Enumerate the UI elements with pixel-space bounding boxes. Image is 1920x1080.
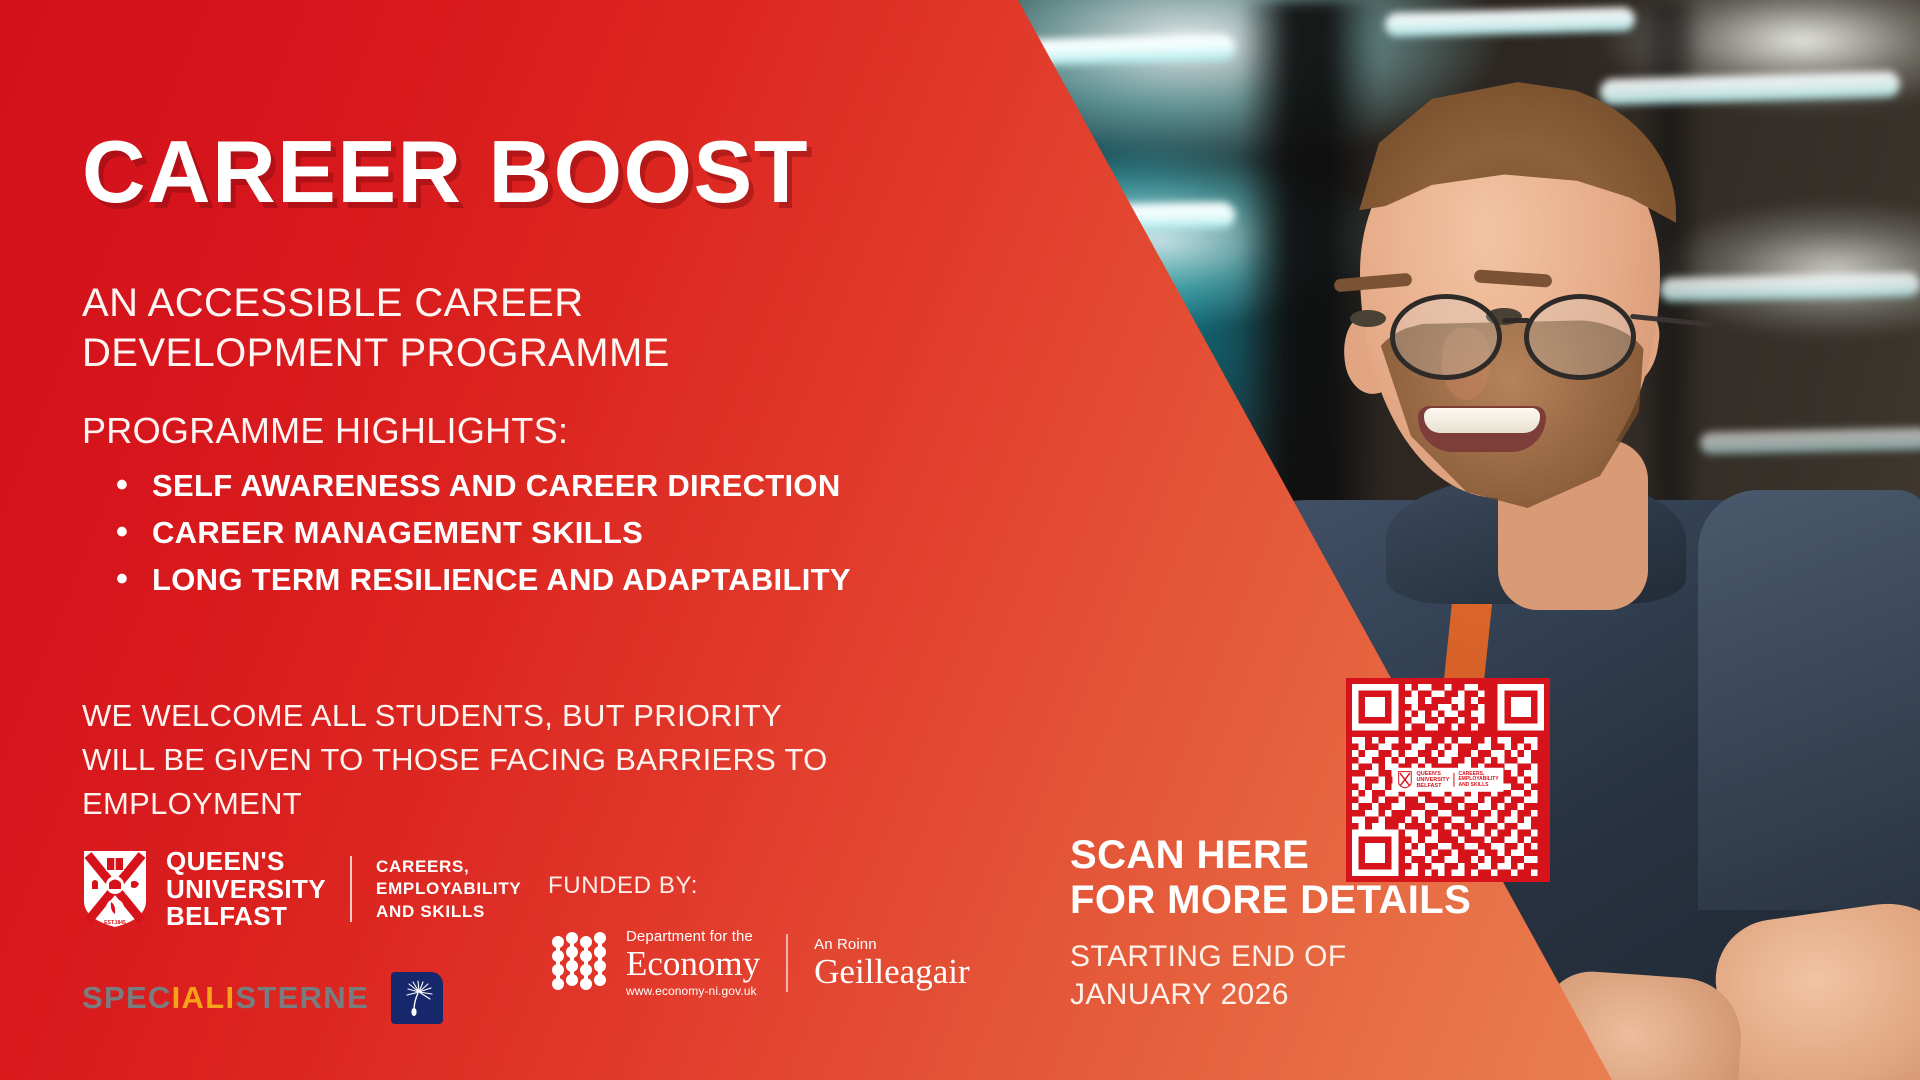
- list-item: LONG TERM RESILIENCE AND ADAPTABILITY: [110, 556, 851, 603]
- starting-line-2: JANUARY 2026: [1070, 976, 1347, 1014]
- dept-line-2: EMPLOYABILITY: [376, 878, 521, 900]
- dfe-irish: An Roinn Geilleagair: [814, 936, 969, 990]
- dandelion-icon: [391, 972, 443, 1024]
- qub-line-3: BELFAST: [166, 903, 326, 931]
- welcome-line-1: WE WELCOME ALL STUDENTS, BUT PRIORITY: [82, 694, 828, 738]
- qub-crest-icon: [1397, 771, 1412, 789]
- logo-divider: [786, 934, 788, 992]
- welcome-line-3: EMPLOYMENT: [82, 782, 828, 826]
- qub-wordmark: QUEEN'S UNIVERSITY BELFAST: [166, 848, 326, 931]
- qr-dept-line-3: AND SKILLS: [1458, 783, 1498, 789]
- spec-highlight: IALI: [172, 980, 236, 1015]
- spec-middle: S: [235, 980, 257, 1015]
- qub-crest-icon: EST.1845: [82, 849, 148, 929]
- starting-line-1: STARTING END OF: [1070, 938, 1347, 976]
- funded-by-label: FUNDED BY:: [548, 872, 698, 900]
- welcome-line-2: WILL BE GIVEN TO THOSE FACING BARRIERS T…: [82, 738, 828, 782]
- scan-line-2: FOR MORE DETAILS: [1070, 878, 1471, 923]
- logo-divider: [1453, 773, 1454, 787]
- list-item: SELF AWARENESS AND CAREER DIRECTION: [110, 462, 851, 509]
- subtitle-line-1: AN ACCESSIBLE CAREER: [82, 278, 670, 328]
- svg-text:EST.1845: EST.1845: [104, 920, 126, 926]
- dfe-hex-pattern-icon: [548, 932, 610, 994]
- specialisterne-wordmark: SPECIALISTERNE: [82, 980, 369, 1016]
- dandelion-glyph: [397, 978, 437, 1018]
- page-title: CAREER BOOST: [82, 128, 809, 216]
- department-for-economy-logo: Department for the Economy www.economy-n…: [548, 928, 970, 998]
- career-boost-poster: CAREER BOOST AN ACCESSIBLE CAREER DEVELO…: [0, 0, 1920, 1080]
- logo-divider: [350, 856, 352, 922]
- qub-line-2: UNIVERSITY: [166, 876, 326, 904]
- dfe-irish-big: Geilleagair: [814, 953, 969, 990]
- poster-content: CAREER BOOST AN ACCESSIBLE CAREER DEVELO…: [0, 0, 1920, 1080]
- dept-line-1: CAREERS,: [376, 856, 521, 878]
- dfe-english-small: Department for the: [626, 928, 760, 945]
- qub-line-1: QUEEN'S: [166, 848, 326, 876]
- welcome-statement: WE WELCOME ALL STUDENTS, BUT PRIORITY WI…: [82, 694, 828, 826]
- scan-line-1: SCAN HERE: [1070, 833, 1471, 878]
- careers-employability-skills-wordmark: CAREERS, EMPLOYABILITY AND SKILLS: [376, 856, 521, 923]
- dfe-url: www.economy-ni.gov.uk: [626, 984, 760, 998]
- qr-center-qub-wordmark: QUEEN'S UNIVERSITY BELFAST: [1416, 771, 1449, 789]
- subtitle: AN ACCESSIBLE CAREER DEVELOPMENT PROGRAM…: [82, 278, 670, 379]
- dfe-irish-small: An Roinn: [814, 936, 969, 953]
- start-date: STARTING END OF JANUARY 2026: [1070, 938, 1347, 1015]
- dfe-english-big: Economy: [626, 945, 760, 982]
- spec-prefix: SPEC: [82, 980, 172, 1015]
- qr-qub-line-3: BELFAST: [1416, 783, 1449, 789]
- qr-center-dept-wordmark: CAREERS, EMPLOYABILITY AND SKILLS: [1458, 771, 1498, 788]
- subtitle-line-2: DEVELOPMENT PROGRAMME: [82, 328, 670, 378]
- list-item: CAREER MANAGEMENT SKILLS: [110, 509, 851, 556]
- spec-suffix: TERNE: [257, 980, 369, 1015]
- highlights-label: PROGRAMME HIGHLIGHTS:: [82, 410, 568, 452]
- highlights-list: SELF AWARENESS AND CAREER DIRECTION CARE…: [110, 462, 851, 603]
- qub-logo: EST.1845 QUEEN'S UNIVERSITY BELFAST CARE…: [82, 848, 521, 931]
- dfe-english: Department for the Economy www.economy-n…: [626, 928, 760, 998]
- specialisterne-logo: SPECIALISTERNE: [82, 972, 443, 1024]
- dept-line-3: AND SKILLS: [376, 901, 521, 923]
- qr-center-logo: QUEEN'S UNIVERSITY BELFAST CAREERS, EMPL…: [1392, 768, 1503, 792]
- scan-here-callout: SCAN HERE FOR MORE DETAILS: [1070, 833, 1471, 923]
